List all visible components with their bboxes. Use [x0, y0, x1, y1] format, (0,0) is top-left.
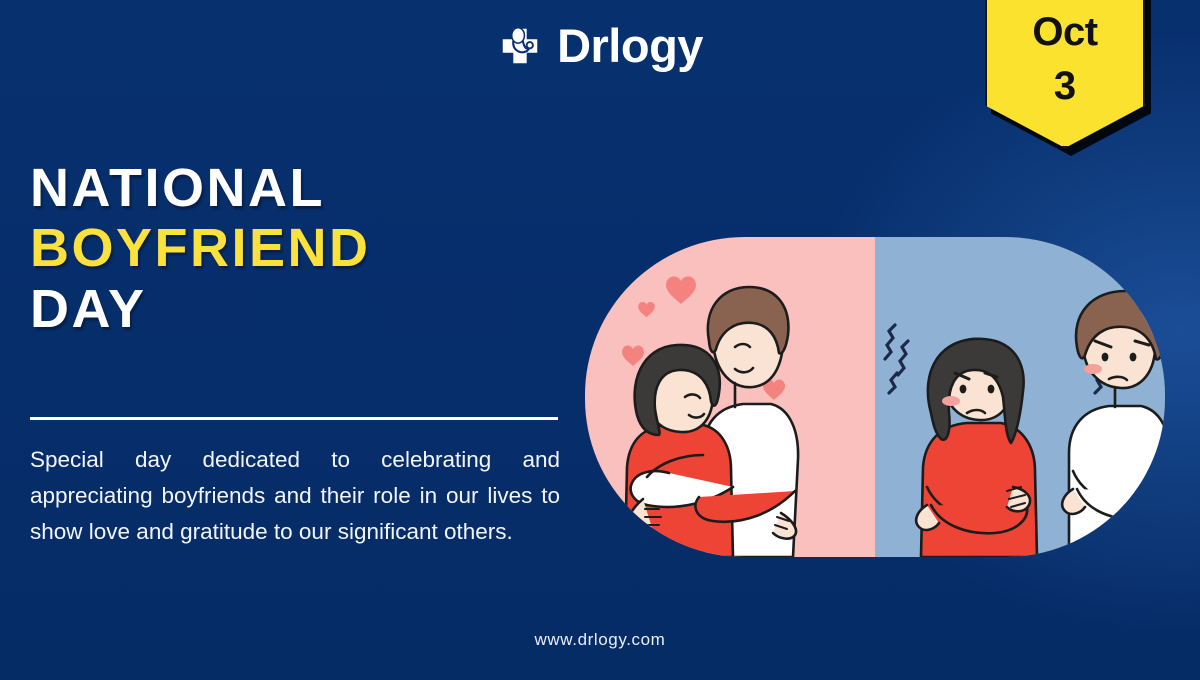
page-title: NATIONAL BOYFRIEND DAY — [30, 158, 570, 339]
headline-line-2: BOYFRIEND — [30, 218, 570, 278]
badge-content: Oct 3 — [985, 0, 1145, 148]
description-text: Special day dedicated to celebrating and… — [30, 442, 560, 550]
badge-month: Oct — [1032, 12, 1097, 52]
badge-day: 3 — [1054, 66, 1076, 106]
medical-cross-stethoscope-icon — [497, 23, 543, 69]
brand-name: Drlogy — [557, 22, 703, 69]
headline-line-3: DAY — [30, 279, 570, 339]
upset-couple-illustration — [585, 237, 1165, 557]
headline-line-1: NATIONAL — [30, 158, 570, 218]
divider — [30, 417, 558, 420]
poster-canvas: Drlogy Oct 3 NATIONAL BOYFRIEND DAY Spec… — [0, 0, 1200, 680]
illustration-panel — [585, 237, 1165, 557]
website-url: www.drlogy.com — [0, 630, 1200, 650]
date-badge: Oct 3 — [985, 0, 1145, 148]
